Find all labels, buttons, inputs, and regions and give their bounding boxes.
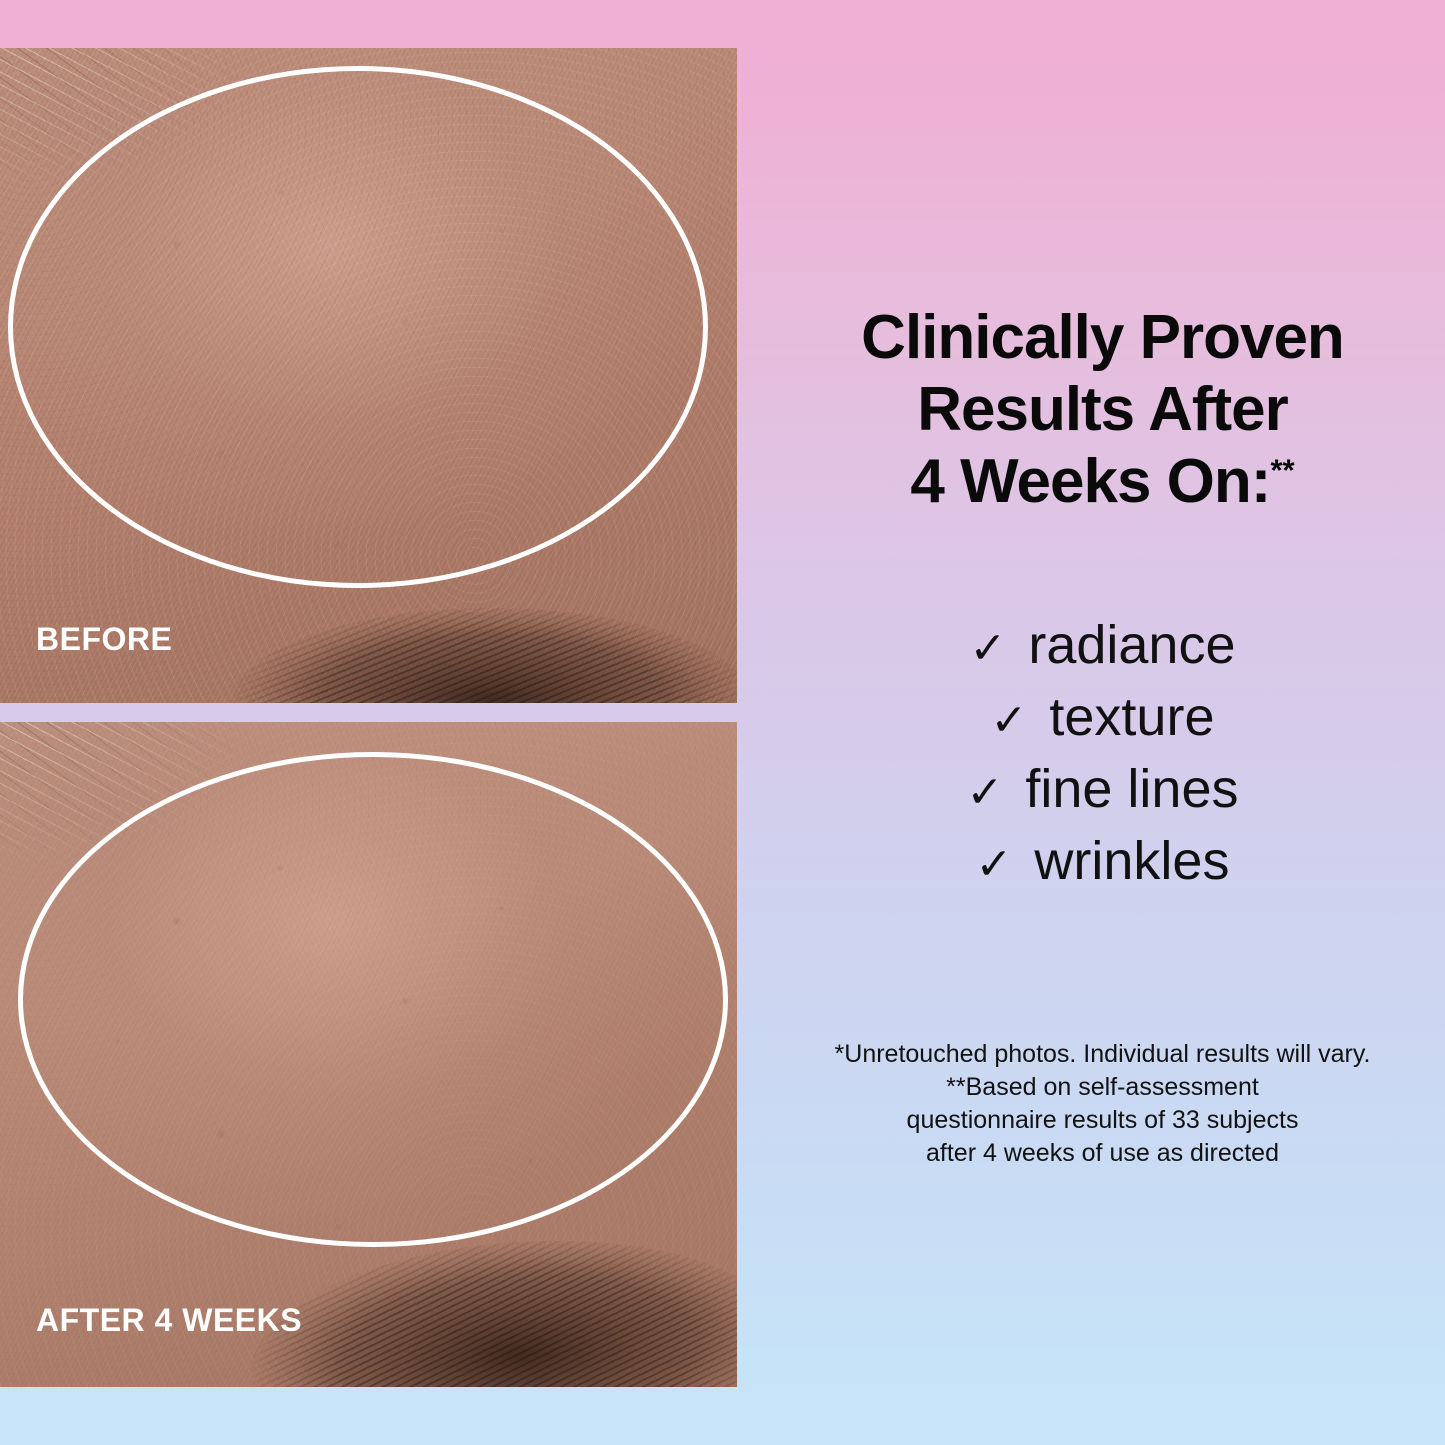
benefit-label: fine lines (1025, 762, 1238, 816)
headline-footnote-marker: ** (1270, 452, 1294, 487)
skin-blotches-after (0, 722, 737, 1387)
check-icon: ✓ (969, 627, 1006, 671)
benefit-label: wrinkles (1034, 834, 1229, 888)
skin-blotches-before (0, 48, 737, 703)
benefit-item-texture: ✓ texture (991, 690, 1215, 744)
check-icon: ✓ (966, 771, 1003, 815)
headline: Clinically Proven Results After 4 Weeks … (760, 302, 1445, 518)
headline-line-2: Results After (760, 374, 1445, 446)
disclaimer-line-2: **Based on self-assessment (760, 1071, 1445, 1104)
benefit-label: radiance (1028, 618, 1235, 672)
disclaimer: *Unretouched photos. Individual results … (760, 1038, 1445, 1170)
after-photo-label: AFTER 4 WEEKS (36, 1302, 302, 1339)
copy-column: Clinically Proven Results After 4 Weeks … (760, 0, 1445, 1445)
headline-line-1: Clinically Proven (760, 302, 1445, 374)
disclaimer-line-4: after 4 weeks of use as directed (760, 1137, 1445, 1170)
headline-line-3-text: 4 Weeks On: (910, 447, 1270, 516)
disclaimer-line-1: *Unretouched photos. Individual results … (760, 1038, 1445, 1071)
disclaimer-line-3: questionnaire results of 33 subjects (760, 1104, 1445, 1137)
benefit-item-radiance: ✓ radiance (969, 618, 1235, 672)
advertisement-canvas: BEFORE AFTER 4 WEEKS Clinically Proven R… (0, 0, 1445, 1445)
after-photo: AFTER 4 WEEKS (0, 722, 737, 1387)
benefit-item-fine-lines: ✓ fine lines (966, 762, 1238, 816)
before-photo-label: BEFORE (36, 621, 172, 658)
check-icon: ✓ (976, 843, 1013, 887)
benefit-item-wrinkles: ✓ wrinkles (976, 834, 1230, 888)
check-icon: ✓ (991, 699, 1028, 743)
benefit-label: texture (1049, 690, 1214, 744)
benefits-list: ✓ radiance ✓ texture ✓ fine lines ✓ wrin… (760, 618, 1445, 888)
before-photo: BEFORE (0, 48, 737, 703)
headline-line-3: 4 Weeks On:** (760, 446, 1445, 518)
